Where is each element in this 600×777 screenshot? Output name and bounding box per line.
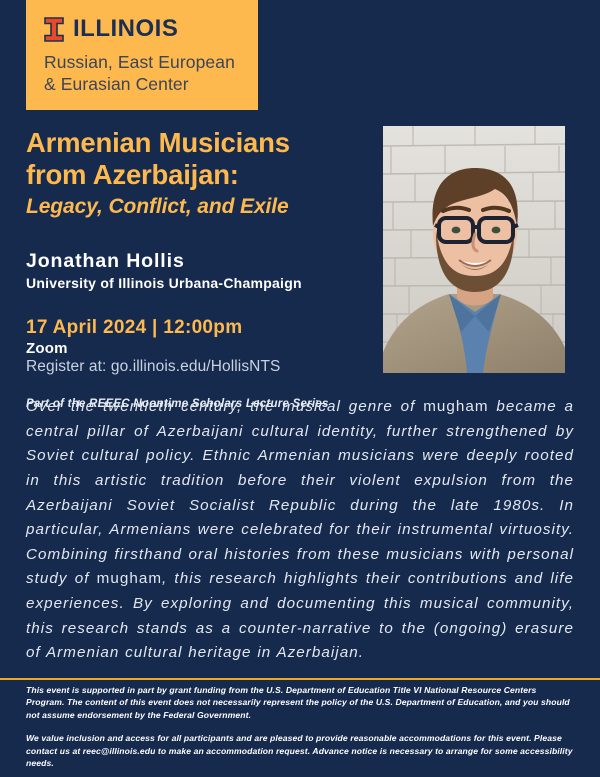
- registration-link[interactable]: Register at: go.illinois.edu/HollisNTS: [26, 358, 371, 376]
- logo-row: ILLINOIS: [44, 14, 258, 44]
- illinois-block-i-icon: [44, 17, 64, 42]
- event-datetime: 17 April 2024 | 12:00pm: [26, 317, 371, 339]
- illinois-wordmark: ILLINOIS: [73, 17, 178, 41]
- illinois-reeec-logo-panel: ILLINOIS Russian, East European & Eurasi…: [26, 0, 258, 110]
- abstract-segment-2: became a central pillar of Azerbaijani c…: [26, 398, 574, 587]
- title-line-2: from Azerbaijan:: [26, 159, 371, 191]
- abstract-segment-1: Over the twentieth century, the musical …: [26, 398, 423, 415]
- unit-name-line1: Russian, East European: [44, 51, 258, 73]
- footer-divider: [0, 678, 600, 680]
- speaker-name: Jonathan Hollis: [26, 250, 371, 273]
- speaker-headshot: [383, 126, 565, 373]
- unit-name: Russian, East European & Eurasian Center: [44, 51, 258, 95]
- speaker-affiliation: University of Illinois Urbana-Champaign: [26, 275, 371, 291]
- page-title: Armenian Musicians from Azerbaijan:: [26, 127, 371, 191]
- title-line-1: Armenian Musicians: [26, 127, 371, 159]
- funding-notice: This event is supported in part by grant…: [26, 684, 574, 721]
- unit-name-line2: & Eurasian Center: [44, 73, 258, 95]
- event-details: Armenian Musicians from Azerbaijan: Lega…: [26, 127, 371, 410]
- abstract-term-mugham-1: mugham: [423, 398, 488, 415]
- event-poster: ILLINOIS Russian, East European & Eurasi…: [0, 0, 600, 777]
- abstract-term-mugham-2: mugham: [97, 570, 162, 587]
- event-venue: Zoom: [26, 340, 371, 357]
- accessibility-notice: We value inclusion and access for all pa…: [26, 732, 574, 769]
- abstract-text: Over the twentieth century, the musical …: [26, 395, 574, 666]
- footer-notices: This event is supported in part by grant…: [0, 684, 600, 770]
- event-subtitle: Legacy, Conflict, and Exile: [26, 194, 371, 219]
